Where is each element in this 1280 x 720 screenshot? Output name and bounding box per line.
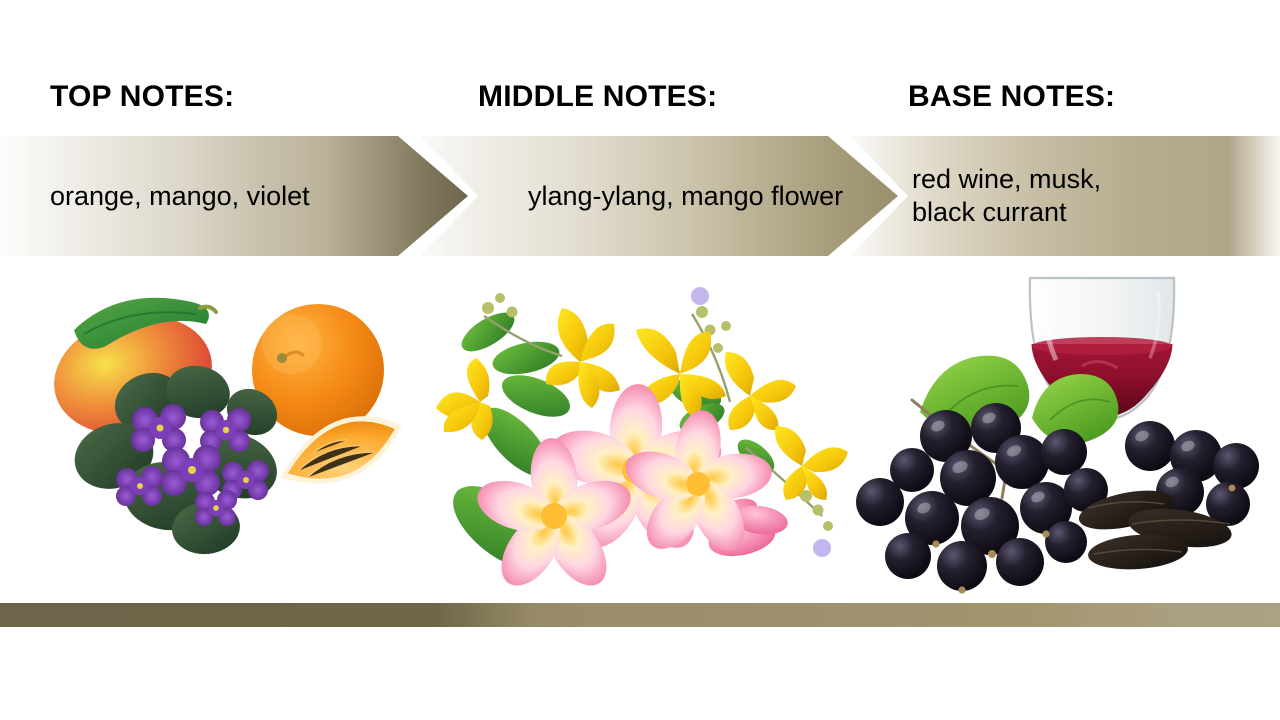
middle-notes-photo — [430, 270, 860, 600]
notes-chevron-band: orange, mango, violet ylang-ylang, mango… — [0, 136, 1280, 256]
base-notes-ingredients: red wine, musk, black currant — [912, 163, 1101, 229]
top-notes-photo — [40, 270, 420, 600]
top-notes-chevron: orange, mango, violet — [0, 136, 468, 256]
base-notes-photo — [850, 270, 1270, 600]
base-notes-heading: BASE NOTES: — [908, 82, 1115, 112]
black-currants — [856, 403, 1259, 594]
top-notes-heading: TOP NOTES: — [50, 82, 234, 112]
notes-imagery-row — [0, 270, 1280, 600]
plumeria-flowers — [471, 382, 775, 596]
base-notes-chevron: red wine, musk, black currant — [850, 136, 1280, 256]
middle-notes-chevron: ylang-ylang, mango flower — [420, 136, 898, 256]
middle-notes-ingredients: ylang-ylang, mango flower — [528, 180, 843, 213]
fragrance-notes-slide: TOP NOTES: MIDDLE NOTES: BASE NOTES: ora… — [0, 0, 1280, 720]
middle-notes-heading: MIDDLE NOTES: — [478, 82, 717, 112]
top-notes-ingredients: orange, mango, violet — [50, 180, 310, 213]
bottom-accent-bar — [0, 603, 1280, 627]
